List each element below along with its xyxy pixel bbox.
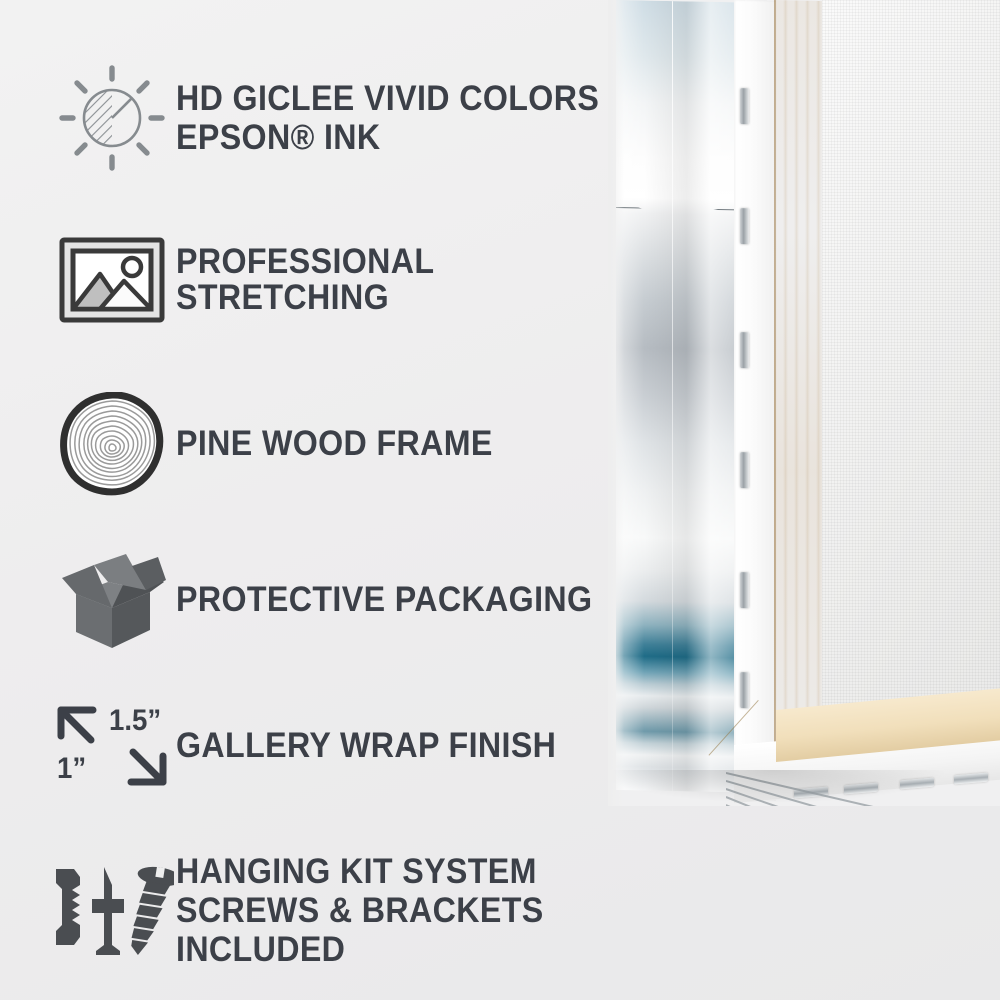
canvas-back-texture (822, 0, 1000, 760)
wood-grain (774, 0, 824, 761)
feature-gallery-wrap-finish: 1.5” 1” GALLERY WRAP FINISH (48, 700, 589, 792)
feature-label: PROFESSIONAL STRETCHING (176, 244, 649, 317)
feature-professional-stretching: PROFESSIONAL STRETCHING (48, 234, 690, 326)
sun-ink-icon (48, 62, 176, 174)
staple (740, 572, 749, 608)
infographic-canvas: HD GICLEE VIVID COLORS EPSON® INK PROFES… (0, 0, 1000, 1000)
feature-hanging-kit: HANGING KIT SYSTEM SCREWS & BRACKETS INC… (48, 852, 690, 970)
open-box-icon (48, 548, 176, 652)
feature-hd-giclee: HD GICLEE VIVID COLORS EPSON® INK (48, 62, 636, 174)
staple (740, 672, 749, 708)
staple (740, 88, 749, 124)
wrap-dimensions-icon: 1.5” 1” (48, 700, 176, 792)
staple (740, 452, 749, 488)
pine-stretcher-bar (774, 0, 824, 761)
staple (740, 208, 749, 244)
depth-label: 1.5” (109, 704, 161, 738)
feature-label: PROTECTIVE PACKAGING (176, 582, 592, 618)
feature-label: HANGING KIT SYSTEM SCREWS & BRACKETS INC… (176, 852, 649, 970)
hanging-hardware-icon (48, 863, 176, 959)
staple (740, 332, 749, 368)
feature-label: HD GICLEE VIVID COLORS EPSON® INK (176, 79, 599, 157)
wood-edge-left (774, 0, 776, 760)
framed-picture-icon (48, 234, 176, 326)
tree-rings-icon (48, 392, 176, 496)
width-label: 1” (57, 752, 86, 786)
feature-label: GALLERY WRAP FINISH (176, 728, 556, 764)
feature-pine-wood-frame: PINE WOOD FRAME (48, 392, 520, 496)
feature-label: PINE WOOD FRAME (176, 426, 493, 462)
canvas-side-return (734, 0, 776, 801)
feature-list: HD GICLEE VIVID COLORS EPSON® INK PROFES… (0, 0, 690, 1000)
feature-protective-packaging: PROTECTIVE PACKAGING (48, 548, 629, 652)
